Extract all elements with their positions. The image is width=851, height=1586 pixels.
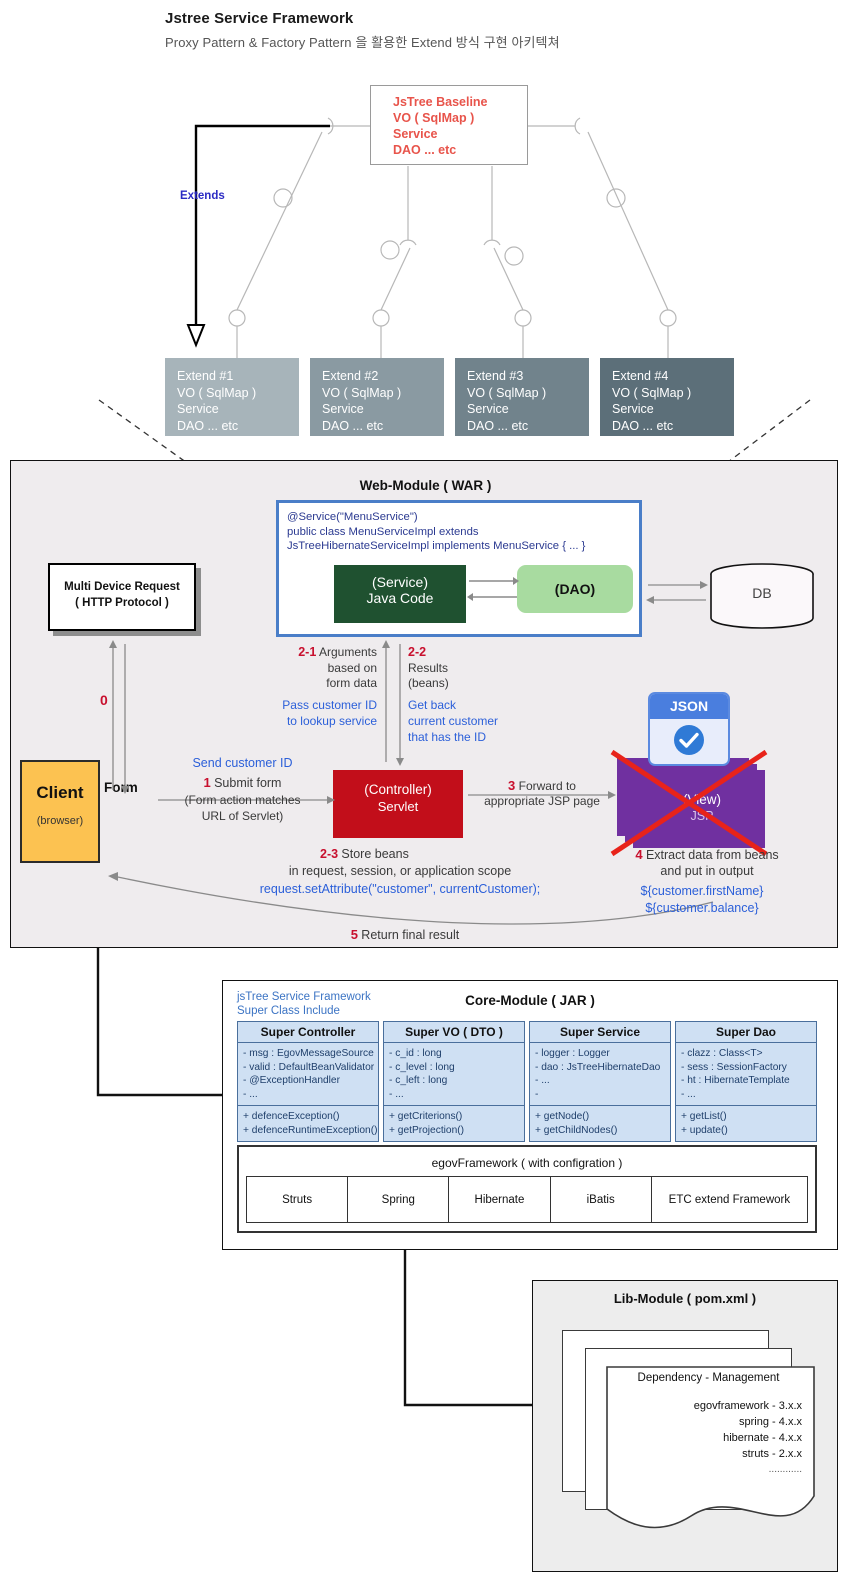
egov-framework-title: egovFramework ( with configration ) <box>239 1147 815 1176</box>
uml-4-attr-1: - clazz : Class<T> <box>681 1047 812 1061</box>
uml-4-attr-4: - ... <box>681 1088 812 1102</box>
step-2-3-code: request.setAttribute("customer", current… <box>190 882 610 897</box>
baseline-line-1: JsTree Baseline <box>393 94 527 110</box>
view-jsp-box: (View) JSP <box>641 776 763 846</box>
uml-3-methods: + getNode() + getChildNodes() <box>530 1105 670 1141</box>
step-2-1-blue-2: to lookup service <box>258 714 377 729</box>
uml-2-attr-4: - ... <box>389 1088 520 1102</box>
uml-3-attr-4: - <box>535 1088 666 1102</box>
uml-1-method-1: + defenceException() <box>243 1110 374 1124</box>
extend-3-l4: DAO ... etc <box>467 418 589 435</box>
extend-4-l3: Service <box>612 401 734 418</box>
service-impl-panel: @Service("MenuService") public class Men… <box>276 500 642 637</box>
step-2-3-head: 2-3 Store beans <box>320 847 409 862</box>
uml-class-super-controller: Super Controller - msg : EgovMessageSour… <box>237 1021 379 1142</box>
extend-4-title: Extend #4 <box>612 368 734 385</box>
dao-box: (DAO) <box>517 565 633 613</box>
uml-3-attributes: - logger : Logger - dao : JsTreeHibernat… <box>530 1043 670 1105</box>
uml-2-attributes: - c_id : long - c_level : long - c_left … <box>384 1043 524 1105</box>
egov-framework-box: egovFramework ( with configration ) Stru… <box>237 1145 817 1233</box>
uml-1-methods: + defenceException() + defenceRuntimeExc… <box>238 1105 378 1141</box>
extend-box-3: Extend #3 VO ( SqlMap ) Service DAO ... … <box>455 358 589 436</box>
json-badge: JSON <box>648 692 730 766</box>
multi-device-request-box: Multi Device Request ( HTTP Protocol ) <box>48 563 196 631</box>
controller-l1: (Controller) <box>333 782 463 797</box>
egov-item-spring: Spring <box>348 1177 449 1222</box>
dependency-list: egovframework - 3.x.x spring - 4.x.x hib… <box>606 1398 802 1478</box>
step-2-1-l2: based on <box>262 661 377 676</box>
step-2-3-sub: in request, session, or application scop… <box>190 864 610 879</box>
uml-class-super-vo: Super VO ( DTO ) - c_id : long - c_level… <box>383 1021 525 1142</box>
extend-1-l3: Service <box>177 401 299 418</box>
step-3-head: 3 Forward to <box>468 778 616 794</box>
uml-2-attr-1: - c_id : long <box>389 1047 520 1061</box>
step-4-code-2: ${customer.balance} <box>592 901 812 916</box>
egov-framework-items: Struts Spring Hibernate iBatis ETC exten… <box>246 1176 808 1223</box>
uml-1-name: Super Controller <box>238 1022 378 1043</box>
uml-2-method-1: + getCriterions() <box>389 1110 520 1124</box>
controller-servlet-box: (Controller) Servlet <box>333 770 463 838</box>
step-1-blue: Send customer ID <box>155 756 330 771</box>
core-module-subtitle: jsTree Service Framework Super Class Inc… <box>237 990 371 1018</box>
json-label: JSON <box>650 694 728 719</box>
view-l1: (View) <box>641 776 763 807</box>
uml-3-attr-2: - dao : JsTreeHibernateDao <box>535 1061 666 1075</box>
egov-item-hibernate: Hibernate <box>449 1177 550 1222</box>
step-1-sub1: (Form action matches <box>155 793 330 808</box>
extend-2-l4: DAO ... etc <box>322 418 444 435</box>
uml-4-attributes: - clazz : Class<T> - sess : SessionFacto… <box>676 1043 816 1105</box>
uml-3-name: Super Service <box>530 1022 670 1043</box>
lib-module-title: Lib-Module ( pom.xml ) <box>532 1291 838 1306</box>
step-2-2-l1: Results <box>408 661 448 676</box>
egov-item-struts: Struts <box>247 1177 348 1222</box>
extend-2-l3: Service <box>322 401 444 418</box>
step-0-label: 0 <box>100 693 108 709</box>
dependency-management-title: Dependency - Management <box>606 1372 811 1384</box>
step-2-2-l2: (beans) <box>408 676 449 691</box>
dependency-item-2: spring - 4.x.x <box>606 1414 802 1430</box>
dependency-item-4: struts - 2.x.x <box>606 1446 802 1462</box>
page-title: Jstree Service Framework <box>165 10 353 27</box>
page-subtitle: Proxy Pattern & Factory Pattern 을 활용한 Ex… <box>165 32 560 51</box>
uml-3-attr-3: - ... <box>535 1074 666 1088</box>
uml-2-attr-2: - c_level : long <box>389 1061 520 1075</box>
step-3-l2: appropriate JSP page <box>468 794 616 809</box>
multi-device-l1: Multi Device Request <box>50 579 194 595</box>
step-2-2-blue-1: Get back <box>408 698 456 713</box>
egov-item-etc: ETC extend Framework <box>652 1177 807 1222</box>
baseline-line-4: DAO ... etc <box>393 142 527 158</box>
egov-item-ibatis: iBatis <box>551 1177 652 1222</box>
step-2-2-num: 2-2 <box>408 645 426 660</box>
extends-label: Extends <box>180 190 225 202</box>
step-2-2-blue-3: that has the ID <box>408 730 486 745</box>
uml-3-method-2: + getChildNodes() <box>535 1124 666 1138</box>
db-label: DB <box>708 585 816 601</box>
extend-1-l4: DAO ... etc <box>177 418 299 435</box>
uml-2-name: Super VO ( DTO ) <box>384 1022 524 1043</box>
web-module-title: Web-Module ( WAR ) <box>0 478 851 493</box>
extend-1-title: Extend #1 <box>177 368 299 385</box>
step-2-1-l3: form data <box>262 676 377 691</box>
service-box: (Service) Java Code <box>334 565 466 623</box>
uml-3-method-1: + getNode() <box>535 1110 666 1124</box>
extend-3-l2: VO ( SqlMap ) <box>467 385 589 402</box>
jstree-baseline-box: JsTree Baseline VO ( SqlMap ) Service DA… <box>370 85 528 165</box>
uml-2-methods: + getCriterions() + getProjection() <box>384 1105 524 1141</box>
service-dao-arrows <box>467 573 519 609</box>
extend-box-1: Extend #1 VO ( SqlMap ) Service DAO ... … <box>165 358 299 436</box>
view-l2: JSP <box>641 809 763 823</box>
diagram-root: Jstree Service Framework Proxy Pattern &… <box>0 0 851 1586</box>
form-label: Form <box>104 780 138 795</box>
uml-4-method-2: + update() <box>681 1124 812 1138</box>
step-4-head: 4 Extract data from beans <box>592 847 822 863</box>
multi-device-l2: ( HTTP Protocol ) <box>50 595 194 611</box>
controller-l2: Servlet <box>333 799 463 814</box>
core-sub-l2: Super Class Include <box>237 1004 371 1018</box>
uml-4-methods: + getList() + update() <box>676 1105 816 1141</box>
uml-4-attr-2: - sess : SessionFactory <box>681 1061 812 1075</box>
step-4-code-1: ${customer.firstName} <box>592 884 812 899</box>
extend-2-l2: VO ( SqlMap ) <box>322 385 444 402</box>
uml-class-super-service: Super Service - logger : Logger - dao : … <box>529 1021 671 1142</box>
service-code-line-3: JsTreeHibernateServiceImpl implements Me… <box>287 539 639 554</box>
step-1-sub2: URL of Servlet) <box>155 809 330 824</box>
service-code-line-1: @Service("MenuService") <box>287 510 639 525</box>
uml-4-name: Super Dao <box>676 1022 816 1043</box>
uml-1-attr-2: - valid : DefaultBeanValidator <box>243 1061 374 1075</box>
extend-box-4: Extend #4 VO ( SqlMap ) Service DAO ... … <box>600 358 734 436</box>
uml-1-attr-1: - msg : EgovMessageSource <box>243 1047 374 1061</box>
step-2-1-head: 2-1 Arguments <box>262 645 377 660</box>
dependency-item-3: hibernate - 4.x.x <box>606 1430 802 1446</box>
extend-2-title: Extend #2 <box>322 368 444 385</box>
uml-3-attr-1: - logger : Logger <box>535 1047 666 1061</box>
baseline-line-3: Service <box>393 126 527 142</box>
extend-3-l3: Service <box>467 401 589 418</box>
uml-class-super-dao: Super Dao - clazz : Class<T> - sess : Se… <box>675 1021 817 1142</box>
uml-1-attr-4: - ... <box>243 1088 374 1102</box>
extend-4-l2: VO ( SqlMap ) <box>612 385 734 402</box>
uml-4-attr-3: - ht : HibernateTemplate <box>681 1074 812 1088</box>
extend-4-l4: DAO ... etc <box>612 418 734 435</box>
uml-2-method-2: + getProjection() <box>389 1124 520 1138</box>
extend-3-title: Extend #3 <box>467 368 589 385</box>
baseline-line-2: VO ( SqlMap ) <box>393 110 527 126</box>
core-sub-l1: jsTree Service Framework <box>237 990 371 1004</box>
uml-1-attributes: - msg : EgovMessageSource - valid : Defa… <box>238 1043 378 1105</box>
service-code-line-2: public class MenuServiceImpl extends <box>287 525 639 540</box>
extend-box-2: Extend #2 VO ( SqlMap ) Service DAO ... … <box>310 358 444 436</box>
uml-1-method-2: + defenceRuntimeException() <box>243 1124 374 1138</box>
dependency-item-1: egovframework - 3.x.x <box>606 1398 802 1414</box>
service-box-l2: Java Code <box>334 590 466 606</box>
extend-1-l2: VO ( SqlMap ) <box>177 385 299 402</box>
step-1-main: 1 Submit form <box>155 775 330 791</box>
client-box: Client (browser) <box>20 760 100 863</box>
check-circle-icon <box>650 723 728 762</box>
uml-1-attr-3: - @ExceptionHandler <box>243 1074 374 1088</box>
step-4-l2: and put in output <box>592 864 822 879</box>
step-2-1-blue-1: Pass customer ID <box>258 698 377 713</box>
uml-4-method-1: + getList() <box>681 1110 812 1124</box>
step-2-2-blue-2: current customer <box>408 714 498 729</box>
service-box-l1: (Service) <box>334 574 466 590</box>
dependency-item-5: ............ <box>606 1462 802 1478</box>
client-name: Client <box>22 783 98 803</box>
client-sub: (browser) <box>22 815 98 827</box>
step-5-label: 5 Return final result <box>240 927 570 943</box>
uml-2-attr-3: - c_left : long <box>389 1074 520 1088</box>
